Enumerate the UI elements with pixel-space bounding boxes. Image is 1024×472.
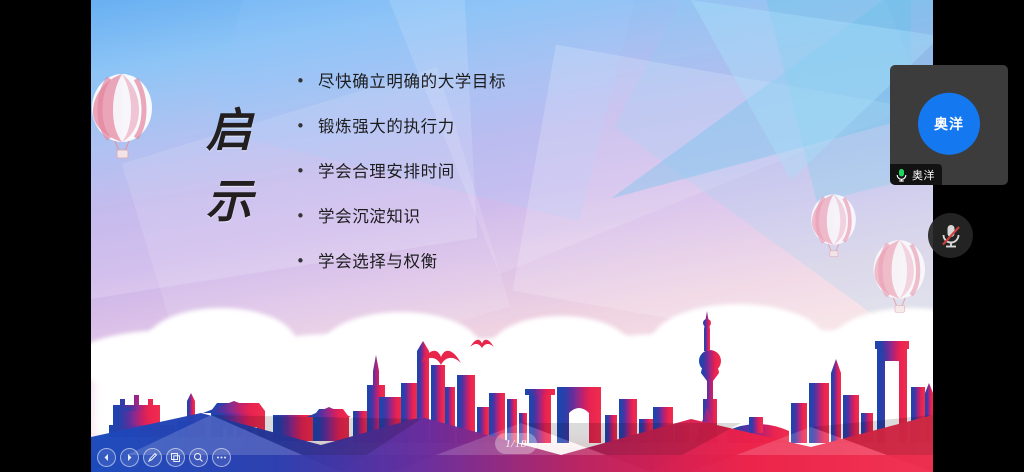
bullet-marker: • (296, 164, 318, 179)
participant-name: 奥洋 (912, 167, 935, 183)
bullet-text: 学会合理安排时间 (318, 164, 455, 181)
annotate-button[interactable] (143, 448, 162, 467)
pen-icon (147, 452, 158, 463)
triangle-right-icon (125, 453, 134, 462)
hot-air-balloon-icon (809, 192, 861, 262)
bullet-marker: • (296, 119, 318, 134)
mic-toggle-button[interactable] (928, 213, 973, 258)
bullet-item: • 学会沉淀知识 (296, 209, 726, 254)
page-indicator: 1/18 (495, 433, 537, 454)
microphone-muted-icon (938, 222, 964, 250)
bullet-item: • 锻炼强大的执行力 (296, 119, 726, 164)
slide-title-char: 示 (187, 166, 273, 237)
slide-title-char: 启 (187, 95, 273, 166)
bullet-marker: • (296, 254, 318, 269)
bullet-marker: • (296, 209, 318, 224)
bullet-item: • 学会选择与权衡 (296, 254, 726, 299)
bullet-item: • 学会合理安排时间 (296, 164, 726, 209)
ellipsis-icon (216, 455, 227, 460)
bullet-text: 尽快确立明确的大学目标 (318, 74, 506, 91)
avatar: 奥洋 (918, 93, 980, 155)
bullet-item: • 尽快确立明确的大学目标 (296, 74, 726, 119)
more-options-button[interactable] (212, 448, 231, 467)
magnifier-icon (193, 452, 204, 463)
next-slide-button[interactable] (120, 448, 139, 467)
screen-recording-frame: 启 示 • 尽快确立明确的大学目标 • 锻炼强大的执行力 • 学会合理安排时间 … (0, 0, 1024, 472)
duplicate-button[interactable] (166, 448, 185, 467)
participant-name-bar: 奥洋 (890, 164, 942, 185)
zoom-button[interactable] (189, 448, 208, 467)
bullet-text: 锻炼强大的执行力 (318, 119, 455, 136)
microphone-on-icon (895, 168, 908, 182)
participant-video-tile[interactable]: 奥洋 奥洋 (890, 65, 1008, 185)
previous-slide-button[interactable] (97, 448, 116, 467)
slide-toolbar (94, 446, 234, 469)
triangle-left-icon (102, 453, 111, 462)
hot-air-balloon-icon (91, 72, 159, 164)
copy-icon (170, 452, 181, 463)
bullet-marker: • (296, 74, 318, 89)
bullet-text: 学会沉淀知识 (318, 209, 421, 226)
slide-bullet-list: • 尽快确立明确的大学目标 • 锻炼强大的执行力 • 学会合理安排时间 • 学会… (296, 74, 726, 299)
bullet-text: 学会选择与权衡 (318, 254, 438, 271)
presentation-slide[interactable]: 启 示 • 尽快确立明确的大学目标 • 锻炼强大的执行力 • 学会合理安排时间 … (91, 0, 933, 472)
slide-title: 启 示 (187, 95, 273, 238)
